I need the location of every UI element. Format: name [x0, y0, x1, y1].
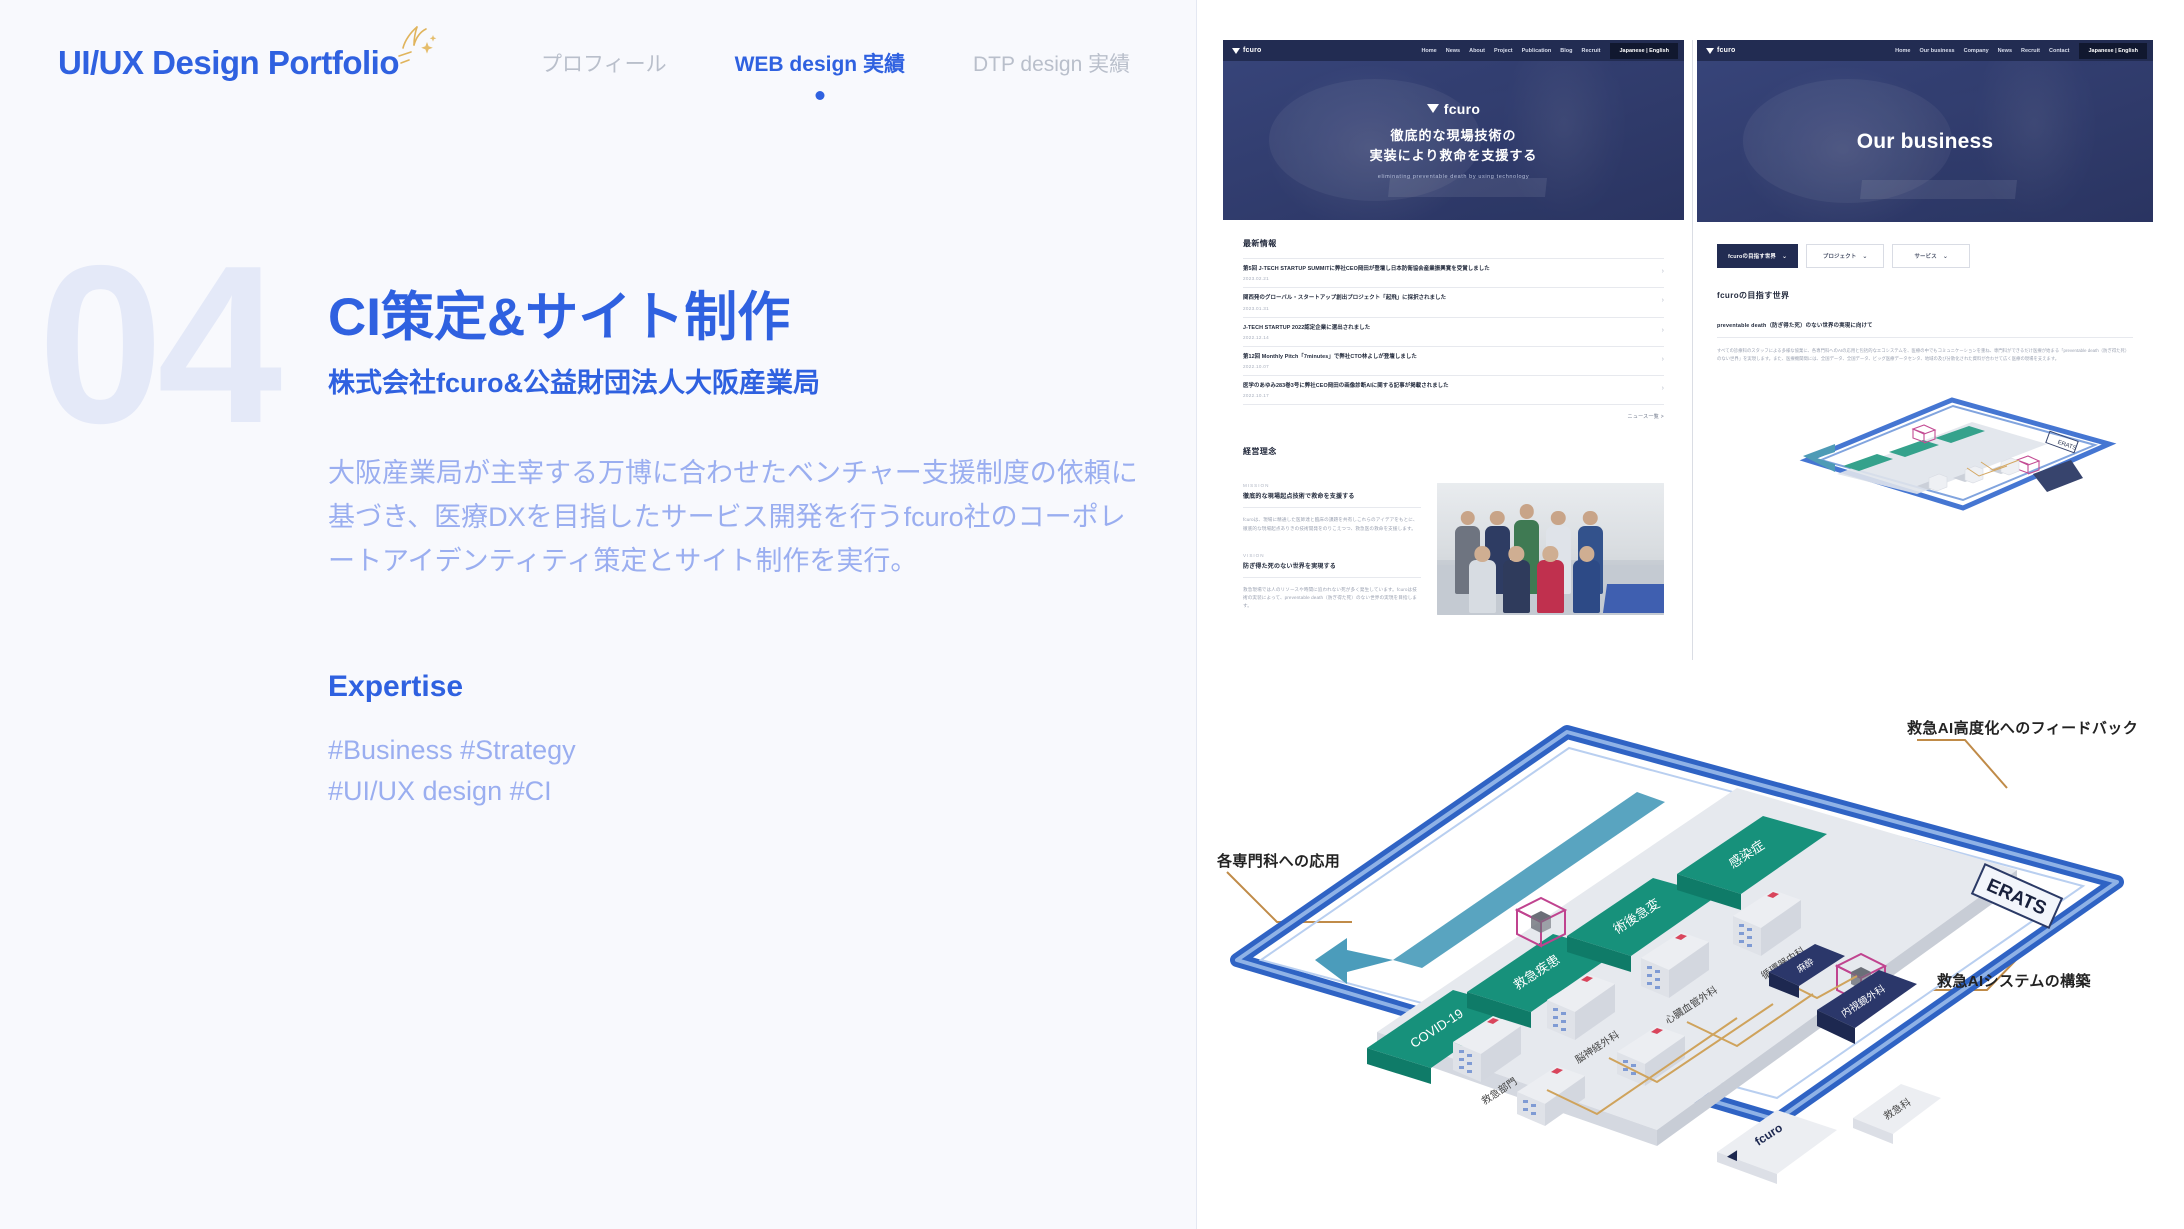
philosophy-title: 防ぎ得た死のない世界を実現する	[1243, 561, 1421, 570]
expertise-tags-line-1: #Business #Strategy	[328, 730, 1148, 771]
mockup1-hero-logo: fcuro	[1427, 101, 1481, 117]
mockup1-nav-home[interactable]: Home	[1421, 48, 1436, 54]
mockup1-team-photo	[1437, 483, 1664, 615]
brand-text: UI/UX Design Portfolio	[58, 44, 399, 81]
mockup1-body: 最新情報 第5回 J-TECH STARTUP SUMMITに弊社CEO岡田が登…	[1223, 220, 1684, 615]
erats-diagram-svg: COVID-19 救急疾患 術後急変 感	[1217, 660, 2157, 1220]
mockup2-section-heading: fcuroの目指す世界	[1717, 290, 2133, 301]
mockup2-nav-news[interactable]: News	[1998, 48, 2012, 54]
project-client: 株式会社fcuro&公益財団法人大阪産業局	[328, 361, 1148, 400]
news-row-texts: 関西発のグローバル・スタートアップ創出プロジェクト「起飛」に採択されました 20…	[1243, 295, 1662, 310]
project-content: CI策定&サイト制作 株式会社fcuro&公益財団法人大阪産業局 大阪産業局が主…	[328, 288, 1148, 812]
mockup1-philosophy: MISSION 徹底的な現場起点技術で救命を支援する fcuroは、現場に精通し…	[1243, 483, 1664, 615]
erats-ecosystem-diagram: 各専門科への応用 救急AI高度化へのフィードバック 救急AIシステムの構築	[1217, 660, 2157, 1220]
mockup2-nav-recruit[interactable]: Recruit	[2021, 48, 2040, 54]
news-title: 第5回 J-TECH STARTUP SUMMITに弊社CEO岡田が登壇し日本防…	[1243, 266, 1654, 273]
news-title: J-TECH STARTUP 2022認定企業に選出されました	[1243, 325, 1654, 332]
mockup1-philosophy-texts: MISSION 徹底的な現場起点技術で救命を支援する fcuroは、現場に精通し…	[1243, 483, 1421, 615]
divider	[1717, 337, 2133, 338]
left-info-panel: UI/UX Design Portfolio プロフィール WEB design…	[0, 0, 1197, 1229]
philosophy-kicker: MISSION	[1243, 483, 1421, 488]
philosophy-block: VISION 防ぎ得た死のない世界を実現する 救急現場では人のリソースや時間に追…	[1243, 553, 1421, 610]
mockup2-section-subheading: preventable death（防ぎ得た死）のない世界の実現に向けて	[1717, 321, 2133, 329]
expertise-tags: #Business #Strategy #UI/UX design #CI	[328, 730, 1148, 812]
diagram-annotation-feedback: 救急AI高度化へのフィードバック	[1907, 717, 2138, 738]
mockup2-filter-tabs[interactable]: fcuroの目指す世界 ⌄ プロジェクト ⌄ サービス ⌄	[1717, 244, 2133, 268]
mockup2-nav-links[interactable]: Home Our business Company News Recruit C…	[1895, 48, 2069, 54]
main-nav[interactable]: プロフィール WEB design 実績 DTP design 実績	[507, 48, 1164, 78]
mockup2-language-switch[interactable]: Japanese | English	[2079, 43, 2147, 59]
mockup1-navbar: fcuro Home News About Project Publicatio…	[1223, 40, 1684, 61]
news-row[interactable]: 第12回 Monthly Pitch「7minutes」で弊社CTO林よしが登壇…	[1243, 347, 1664, 376]
mockup1-news-heading: 最新情報	[1243, 238, 1664, 249]
filter-button-world[interactable]: fcuroの目指す世界 ⌄	[1717, 244, 1798, 268]
philosophy-kicker: VISION	[1243, 553, 1421, 558]
mockup1-nav-recruit[interactable]: Recruit	[1582, 48, 1601, 54]
news-date: 2022.10.07	[1243, 364, 1654, 369]
filter-label: プロジェクト	[1823, 252, 1857, 260]
expertise-tags-line-2: #UI/UX design #CI	[328, 771, 1148, 812]
mockup2-hero-content: Our business	[1697, 61, 2153, 222]
mockup1-nav-publication[interactable]: Publication	[1522, 48, 1552, 54]
mockup1-nav-blog[interactable]: Blog	[1560, 48, 1572, 54]
news-row-texts: 医学のあゆみ283巻3号に弊社CEO岡田の画像診断AIに関する記事が掲載されまし…	[1243, 383, 1662, 398]
news-date: 2023.01.31	[1243, 306, 1654, 311]
mockup1-language-switch[interactable]: Japanese | English	[1610, 43, 1678, 59]
fcuro-triangle-icon	[1427, 104, 1439, 113]
diagram-annotation-system: 救急AIシステムの構築	[1937, 970, 2091, 991]
mockup1-hero-title-1: 徹底的な現場技術の	[1390, 126, 1516, 146]
news-date: 2022.10.17	[1243, 393, 1654, 398]
mockup2-nav-company[interactable]: Company	[1964, 48, 1989, 54]
filter-button-service[interactable]: サービス ⌄	[1892, 244, 1970, 268]
chevron-right-icon: ›	[1662, 385, 1664, 392]
mockup2-nav-home[interactable]: Home	[1895, 48, 1910, 54]
news-row-texts: 第12回 Monthly Pitch「7minutes」で弊社CTO林よしが登壇…	[1243, 354, 1662, 369]
nav-item-label: プロフィール	[541, 53, 667, 76]
mockup1-hero-content: fcuro 徹底的な現場技術の 実装により救命を支援する eliminating…	[1223, 61, 1684, 220]
nav-item-dtp-design[interactable]: DTP design 実績	[939, 48, 1164, 78]
portfolio-page: UI/UX Design Portfolio プロフィール WEB design…	[0, 0, 2184, 1229]
website-mockup-our-business[interactable]: fcuro Home Our business Company News Rec…	[1692, 40, 2153, 660]
diagram-annotation-specialty: 各専門科への応用	[1217, 850, 1340, 871]
chevron-down-icon: ⌄	[1862, 253, 1867, 260]
nav-item-profile[interactable]: プロフィール	[507, 48, 701, 78]
project-description: 大阪産業局が主宰する万博に合わせたベンチャー支援制度の依頼に基づき、医療DXを目…	[328, 452, 1148, 583]
philosophy-title: 徹底的な現場起点技術で救命を支援する	[1243, 491, 1421, 500]
website-mockups-row: fcuro Home News About Project Publicatio…	[1223, 40, 2153, 660]
mockup1-hero-title-2: 実装により救命を支援する	[1370, 146, 1538, 166]
mockup1-hero-subtitle: eliminating preventable death by using t…	[1378, 174, 1529, 180]
news-row[interactable]: 関西発のグローバル・スタートアップ創出プロジェクト「起飛」に採択されました 20…	[1243, 288, 1664, 317]
mockup2-nav-contact[interactable]: Contact	[2049, 48, 2069, 54]
fcuro-triangle-icon	[1232, 48, 1240, 54]
news-title: 第12回 Monthly Pitch「7minutes」で弊社CTO林よしが登壇…	[1243, 354, 1654, 361]
mockup2-logo-text: fcuro	[1717, 47, 1736, 54]
mini-erats-diagram-svg: ERATS	[1717, 382, 2137, 532]
chevron-down-icon: ⌄	[1943, 253, 1948, 260]
emergency-tile: 救急科	[1853, 1084, 1941, 1144]
mockup2-body: fcuroの目指す世界 ⌄ プロジェクト ⌄ サービス ⌄ fcuroの目指す世…	[1697, 222, 2153, 532]
chevron-down-icon: ⌄	[1782, 253, 1787, 260]
mockup1-hero: fcuro Home News About Project Publicatio…	[1223, 40, 1684, 220]
mockup1-logo: fcuro	[1232, 47, 1262, 54]
mockup1-news-more-link[interactable]: ニュース一覧 >	[1243, 413, 1664, 420]
news-title: 医学のあゆみ283巻3号に弊社CEO岡田の画像診断AIに関する記事が掲載されまし…	[1243, 383, 1654, 390]
mockup1-philosophy-heading: 経営理念	[1243, 446, 1664, 457]
mockup1-nav-project[interactable]: Project	[1494, 48, 1513, 54]
site-brand-logo[interactable]: UI/UX Design Portfolio	[58, 44, 399, 82]
nav-item-label: DTP design 実績	[973, 53, 1130, 76]
chevron-right-icon: ›	[1662, 268, 1664, 275]
divider	[1243, 577, 1421, 578]
site-header: UI/UX Design Portfolio プロフィール WEB design…	[0, 44, 1197, 82]
fcuro-triangle-icon	[1706, 48, 1714, 54]
expertise-heading: Expertise	[328, 670, 1148, 704]
philosophy-body: 救急現場では人のリソースや時間に追われない死が多く発生しています。fcuroは技…	[1243, 586, 1421, 610]
news-title: 関西発のグローバル・スタートアップ創出プロジェクト「起飛」に採択されました	[1243, 295, 1654, 302]
news-date: 2022.12.14	[1243, 335, 1654, 340]
divider	[1243, 507, 1421, 508]
news-row[interactable]: 医学のあゆみ283巻3号に弊社CEO岡田の画像診断AIに関する記事が掲載されまし…	[1243, 376, 1664, 405]
fcuro-base-tile: fcuro	[1717, 1110, 1837, 1184]
mockup1-nav-news[interactable]: News	[1446, 48, 1460, 54]
chevron-right-icon: ›	[1662, 356, 1664, 363]
news-row[interactable]: 第5回 J-TECH STARTUP SUMMITに弊社CEO岡田が登壇し日本防…	[1243, 259, 1664, 288]
chevron-right-icon: ›	[1662, 297, 1664, 304]
mockup2-hero-title: Our business	[1857, 130, 1994, 154]
filter-label: サービス	[1914, 252, 1936, 260]
right-preview-panel: fcuro Home News About Project Publicatio…	[1197, 0, 2184, 1229]
nav-item-label: WEB design 実績	[735, 53, 905, 76]
website-mockup-home[interactable]: fcuro Home News About Project Publicatio…	[1223, 40, 1684, 660]
filter-label: fcuroの目指す世界	[1728, 252, 1776, 260]
news-row-texts: 第5回 J-TECH STARTUP SUMMITに弊社CEO岡田が登壇し日本防…	[1243, 266, 1662, 281]
news-row[interactable]: J-TECH STARTUP 2022認定企業に選出されました 2022.12.…	[1243, 318, 1664, 347]
mockup2-mini-diagram: ERATS	[1717, 382, 2133, 532]
nav-item-web-design[interactable]: WEB design 実績	[701, 48, 939, 78]
mockup2-navbar: fcuro Home Our business Company News Rec…	[1697, 40, 2153, 61]
news-date: 2023.02.21	[1243, 276, 1654, 281]
mockup2-section-body: すべての診療科のスタッフによる多様な協業に、各専門科へのAIの応用と包括的なエコ…	[1717, 347, 2133, 364]
project-number-watermark: 04	[38, 248, 276, 442]
mockup1-nav-about[interactable]: About	[1469, 48, 1485, 54]
project-title: CI策定&サイト制作	[328, 288, 1148, 347]
mockup1-news-list: 第5回 J-TECH STARTUP SUMMITに弊社CEO岡田が登壇し日本防…	[1243, 258, 1664, 405]
news-row-texts: J-TECH STARTUP 2022認定企業に選出されました 2022.12.…	[1243, 325, 1662, 340]
mockup1-logo-text: fcuro	[1243, 47, 1262, 54]
photo-table	[1603, 584, 1664, 613]
mockup2-nav-our-business[interactable]: Our business	[1919, 48, 1954, 54]
mockup1-nav-links[interactable]: Home News About Project Publication Blog…	[1421, 48, 1600, 54]
mockup1-hero-logo-text: fcuro	[1444, 101, 1481, 117]
filter-button-project[interactable]: プロジェクト ⌄	[1806, 244, 1884, 268]
philosophy-body: fcuroは、現場に精通した医師達と臨床の課題を共有しこれらのアイデアをもとに、…	[1243, 516, 1421, 532]
chevron-right-icon: ›	[1662, 327, 1664, 334]
active-nav-dot-icon	[815, 91, 824, 100]
mockup2-logo: fcuro	[1706, 47, 1736, 54]
philosophy-block: MISSION 徹底的な現場起点技術で救命を支援する fcuroは、現場に精通し…	[1243, 483, 1421, 532]
mockup2-hero: fcuro Home Our business Company News Rec…	[1697, 40, 2153, 222]
